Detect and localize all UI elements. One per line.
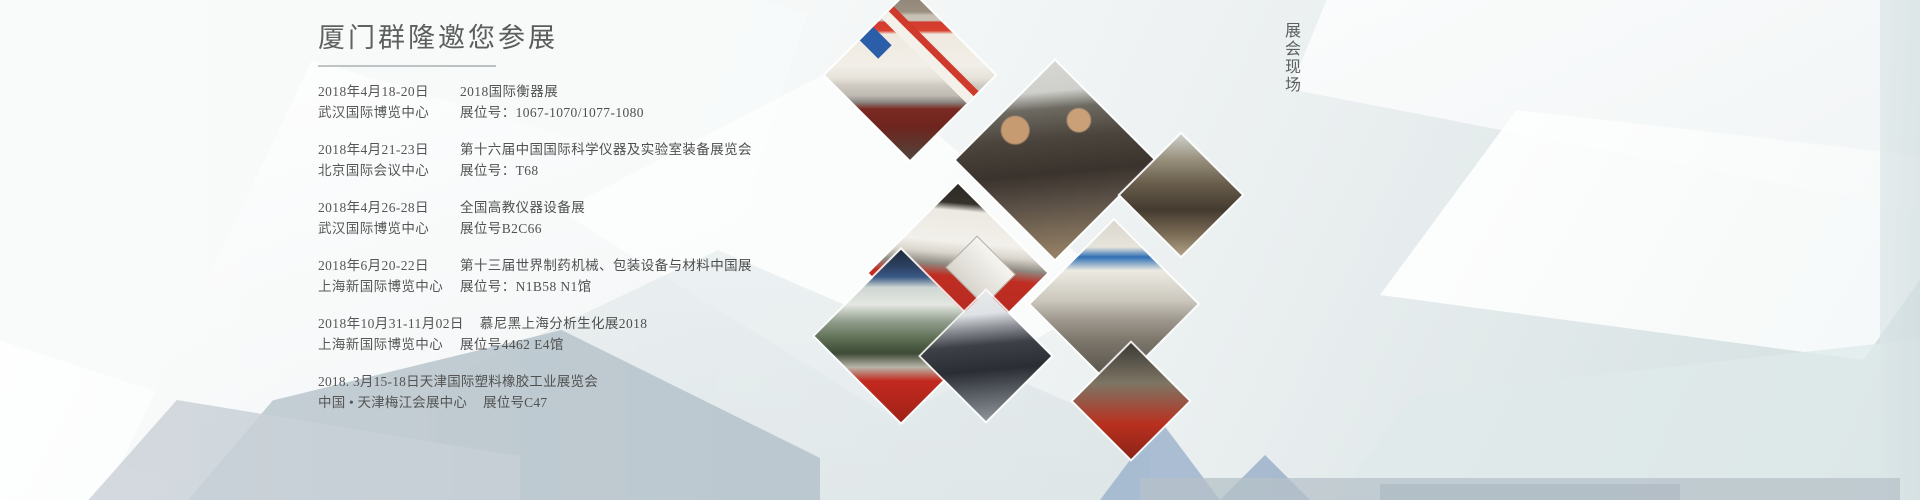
background-bar-bottom-2: [1380, 484, 1680, 500]
event-booth: 展位号：T68: [460, 163, 539, 178]
event-line-secondary: 中国 • 天津梅江会展中心展位号C47: [318, 392, 878, 413]
event-line-primary: 2018. 3月15-18日天津国际塑料橡胶工业展览会: [318, 371, 878, 392]
event-date: 2018年6月20-22日: [318, 255, 444, 276]
background-polygon-right-low: [1300, 330, 1920, 500]
event-date: 2018年10月31-11月02日: [318, 313, 464, 334]
event-schedule-column: 厦门群隆邀您参展 2018年4月18-20日2018国际衡器展 武汉国际博览中心…: [318, 20, 878, 429]
event-venue: 武汉国际博览中心: [318, 218, 444, 239]
scene-caption-vertical: 展会现场: [1279, 22, 1301, 108]
event-date: 2018年4月21-23日: [318, 139, 444, 160]
exhibition-invitation-banner: 厦门群隆邀您参展 2018年4月18-20日2018国际衡器展 武汉国际博览中心…: [0, 0, 1920, 500]
event-name: 慕尼黑上海分析生化展2018: [480, 316, 648, 331]
event-venue: 武汉国际博览中心: [318, 102, 444, 123]
event-item: 2018年6月20-22日第十三届世界制药机械、包装设备与材料中国展 上海新国际…: [318, 255, 878, 297]
event-venue: 上海新国际博览中心: [318, 334, 444, 355]
event-name: 第十三届世界制药机械、包装设备与材料中国展: [460, 258, 752, 273]
event-booth: 展位号C47: [483, 395, 547, 410]
title-underline-rule: [318, 65, 496, 67]
page-title: 厦门群隆邀您参展: [318, 20, 878, 65]
event-date: 2018. 3月15-18日天津国际塑料橡胶工业展览会: [318, 371, 598, 392]
event-venue: 北京国际会议中心: [318, 160, 444, 181]
event-name: 2018国际衡器展: [460, 84, 558, 99]
event-line-primary: 2018年10月31-11月02日慕尼黑上海分析生化展2018: [318, 313, 878, 334]
event-venue: 上海新国际博览中心: [318, 276, 444, 297]
event-line-secondary: 上海新国际博览中心展位号4462 E4馆: [318, 334, 878, 355]
event-booth: 展位号4462 E4馆: [460, 337, 564, 352]
event-item: 2018. 3月15-18日天津国际塑料橡胶工业展览会 中国 • 天津梅江会展中…: [318, 371, 878, 413]
background-polygon-right-band: [1380, 110, 1920, 360]
booth-banner-photo: [825, 0, 995, 160]
event-item: 2018年4月18-20日2018国际衡器展 武汉国际博览中心展位号：1067-…: [318, 81, 878, 123]
event-venue: 中国 • 天津梅江会展中心: [318, 392, 467, 413]
photo-collage: [840, 0, 1220, 500]
event-line-secondary: 武汉国际博览中心展位号：1067-1070/1077-1080: [318, 102, 878, 123]
event-item: 2018年10月31-11月02日慕尼黑上海分析生化展2018 上海新国际博览中…: [318, 313, 878, 355]
background-edge-strip-right: [1880, 0, 1920, 500]
event-booth: 展位号：1067-1070/1077-1080: [460, 105, 644, 120]
event-line-secondary: 上海新国际博览中心展位号：N1B58 N1馆: [318, 276, 878, 297]
event-line-secondary: 武汉国际博览中心展位号B2C66: [318, 218, 878, 239]
event-date: 2018年4月18-20日: [318, 81, 444, 102]
event-line-primary: 2018年4月26-28日全国高教仪器设备展: [318, 197, 878, 218]
event-line-primary: 2018年4月21-23日第十六届中国国际科学仪器及实验室装备展览会: [318, 139, 878, 160]
event-booth: 展位号：N1B58 N1馆: [460, 279, 592, 294]
event-item: 2018年4月26-28日全国高教仪器设备展 武汉国际博览中心展位号B2C66: [318, 197, 878, 239]
event-date: 2018年4月26-28日: [318, 197, 444, 218]
event-line-primary: 2018年6月20-22日第十三届世界制药机械、包装设备与材料中国展: [318, 255, 878, 276]
event-name: 第十六届中国国际科学仪器及实验室装备展览会: [460, 142, 752, 157]
event-name: 全国高教仪器设备展: [460, 200, 585, 215]
event-booth: 展位号B2C66: [460, 221, 542, 236]
event-line-primary: 2018年4月18-20日2018国际衡器展: [318, 81, 878, 102]
event-line-secondary: 北京国际会议中心展位号：T68: [318, 160, 878, 181]
event-item: 2018年4月21-23日第十六届中国国际科学仪器及实验室装备展览会 北京国际会…: [318, 139, 878, 181]
